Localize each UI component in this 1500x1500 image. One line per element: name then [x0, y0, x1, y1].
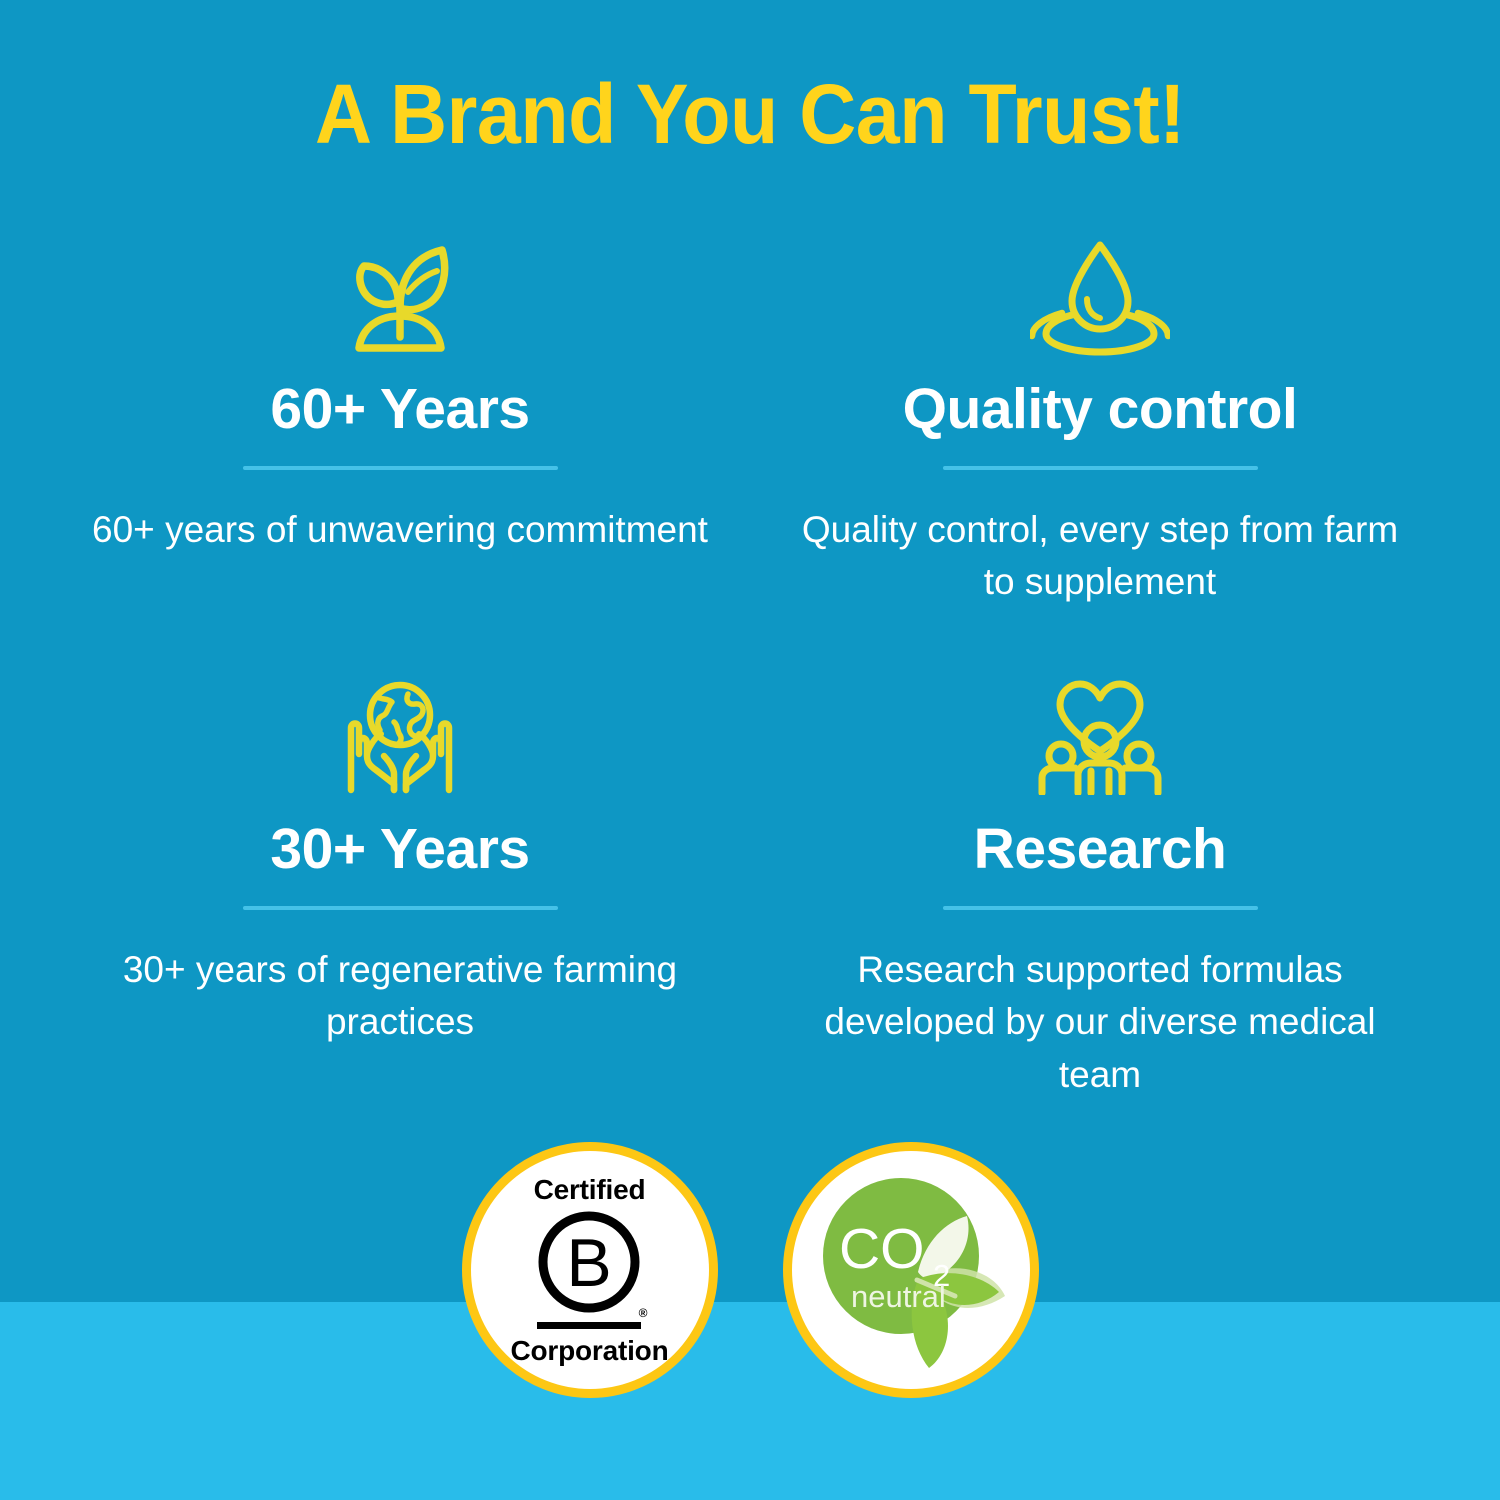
feature-title: 30+ Years — [270, 820, 529, 880]
co2-neutral-badge: CO 2 neutral — [783, 1142, 1039, 1398]
feature-card-research: Research Research supported formulas dev… — [760, 672, 1440, 1112]
certification-badges: Certified B ® Corporation — [0, 1142, 1500, 1398]
feature-description: 60+ years of unwavering commitment — [92, 504, 708, 557]
family-heart-icon — [1030, 672, 1170, 802]
bcorp-certified-label: Certified — [534, 1176, 646, 1204]
feature-card-quality-control: Quality control Quality control, every s… — [760, 232, 1440, 672]
feature-divider — [243, 466, 558, 470]
feature-grid: 60+ Years 60+ years of unwavering commit… — [60, 232, 1440, 1112]
feature-divider — [243, 906, 558, 910]
registered-trademark-icon: ® — [639, 1307, 648, 1319]
co2-neutral-text: neutral — [851, 1279, 946, 1314]
bcorp-rule: ® — [537, 1322, 641, 1329]
sprout-icon — [338, 232, 463, 362]
feature-divider — [943, 466, 1258, 470]
certified-b-corporation-badge: Certified B ® Corporation — [462, 1142, 718, 1398]
co2-neutral-icon: CO 2 neutral — [805, 1164, 1017, 1376]
feature-title: Research — [974, 820, 1227, 880]
feature-description: Quality control, every step from farm to… — [790, 504, 1410, 609]
bcorp-b-mark-icon: B — [537, 1210, 641, 1318]
brand-trust-infographic: A Brand You Can Trust! 60+ Years — [0, 0, 1500, 1500]
feature-card-60-years: 60+ Years 60+ years of unwavering commit… — [60, 232, 740, 672]
globe-in-hands-icon — [336, 672, 464, 802]
feature-divider — [943, 906, 1258, 910]
svg-text:B: B — [567, 1225, 612, 1301]
feature-description: 30+ years of regenerative farming practi… — [90, 944, 710, 1049]
feature-title: Quality control — [903, 380, 1298, 440]
feature-card-30-years: 30+ Years 30+ years of regenerative farm… — [60, 672, 740, 1112]
feature-title: 60+ Years — [270, 380, 529, 440]
bcorp-corporation-label: Corporation — [510, 1337, 668, 1365]
co2-text: CO — [839, 1217, 925, 1281]
feature-description: Research supported formulas developed by… — [790, 944, 1410, 1102]
water-droplet-icon — [1030, 232, 1170, 362]
page-title: A Brand You Can Trust! — [45, 72, 1455, 156]
